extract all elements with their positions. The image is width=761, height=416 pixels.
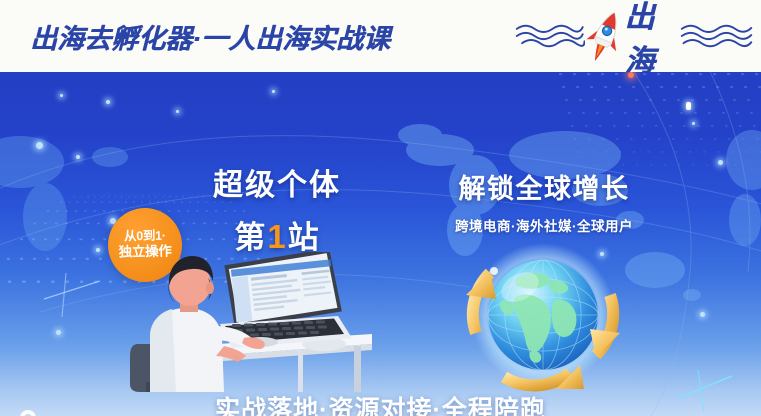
banner-stage: 超级个体 第1站 从0到1· 独立操作 解锁全球增长 跨境电商·海外社媒·全球用… [0, 72, 761, 416]
page-title: 出海去孵化器·一人出海实战课 [30, 17, 390, 56]
glow-dot [76, 155, 80, 159]
glow-dot [628, 72, 634, 78]
brand-name: 出海 [625, 0, 678, 80]
glow-dot [56, 330, 61, 335]
luggage-illustration [619, 402, 759, 416]
glow-dot [272, 90, 275, 93]
right-headline-subtitle: 跨境电商·海外社媒·全球用户 [404, 215, 684, 235]
compass-and-anchor-illustration [0, 394, 144, 416]
right-headline: 解锁全球增长 跨境电商·海外社媒·全球用户 [404, 167, 684, 235]
compass-icon [0, 412, 66, 416]
person-at-laptop-illustration [128, 252, 378, 392]
glow-dot [686, 102, 691, 110]
sparkle-icon [36, 267, 106, 321]
glow-dot [176, 110, 179, 113]
glow-dot [60, 94, 63, 97]
right-headline-title: 解锁全球增长 [404, 167, 684, 206]
badge-line1: 从0到1· [124, 228, 166, 244]
left-headline-line2: 第1站 [152, 212, 402, 257]
rolling-luggage-icon [690, 412, 759, 416]
glow-dot [96, 248, 100, 252]
brand-logo: 出海 [515, 4, 753, 68]
glow-dot [106, 100, 110, 104]
suitcase-icon [626, 412, 700, 416]
glow-dot [718, 160, 723, 165]
left-headline-number: 1 [266, 218, 287, 255]
left-headline-suffix: 站 [288, 220, 320, 255]
left-headline-line1: 超级个体 [152, 160, 402, 204]
globe-with-arrows-illustration [438, 237, 648, 397]
wave-lines-icon [515, 19, 584, 53]
glow-dot [36, 142, 43, 149]
left-headline-prefix: 第 [234, 220, 266, 255]
rocket-icon [585, 8, 625, 64]
glow-dot [700, 312, 705, 317]
header-bar: 出海去孵化器·一人出海实战课 [0, 0, 761, 72]
marketing-banner: 出海去孵化器·一人出海实战课 [0, 0, 761, 416]
glow-dot [692, 122, 695, 125]
wave-lines-icon [680, 19, 753, 53]
left-headline: 超级个体 第1站 [152, 160, 402, 257]
